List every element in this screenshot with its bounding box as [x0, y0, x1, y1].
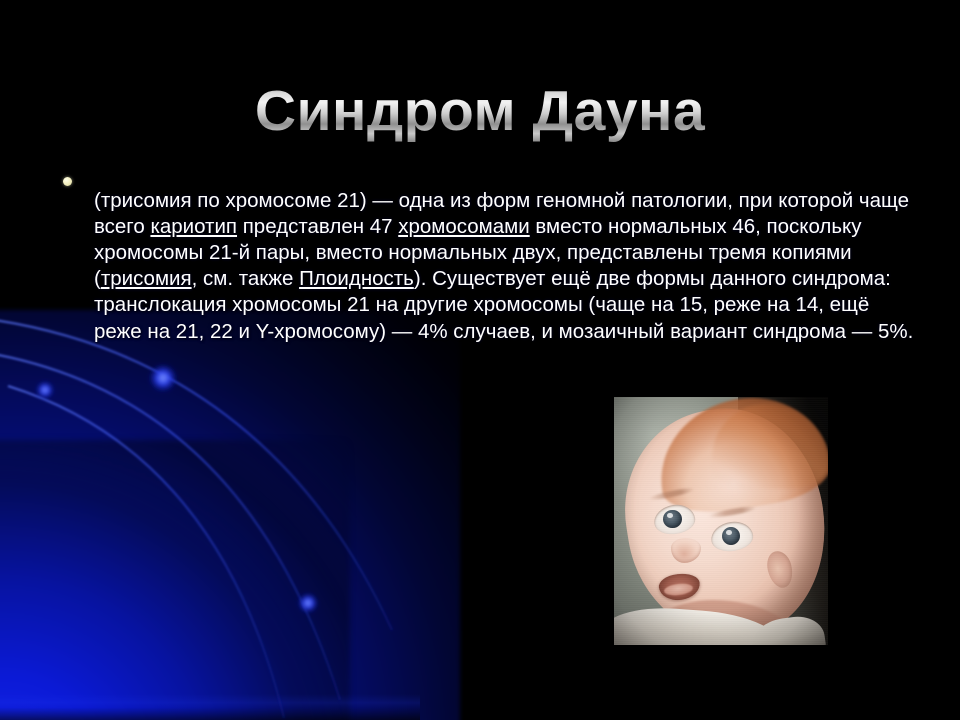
hyperlink-term[interactable]: трисомия: [101, 267, 192, 290]
paragraph-run: , см. также: [192, 267, 299, 290]
photo-grain: [614, 397, 828, 645]
arc-dot-small-lower: [298, 593, 318, 613]
presentation-slide: Синдром Дауна (трисомия по хромосоме 21)…: [0, 0, 960, 720]
hyperlink-term[interactable]: кариотип: [150, 215, 237, 238]
arc-3: [8, 386, 284, 718]
hyperlink-term[interactable]: хромосомами: [398, 215, 529, 238]
background-glow-inner: [0, 440, 350, 720]
arc-2: [0, 352, 340, 700]
arc-dot-large-mid: [149, 364, 177, 392]
photo-image: [614, 397, 828, 645]
hyperlink-term[interactable]: Плоидность: [299, 267, 414, 290]
body-paragraph: (трисомия по хромосоме 21) — одна из фор…: [94, 188, 915, 345]
bullet-point-icon: [63, 177, 72, 186]
infant-photo: [614, 397, 828, 645]
background-glow-outer: [0, 310, 460, 720]
paragraph-run: представлен 47: [237, 215, 398, 238]
bullet-list: (трисомия по хромосоме 21) — одна из фор…: [55, 167, 915, 365]
arc-dot-small-left: [36, 381, 54, 399]
slide-title: Синдром Дауна: [0, 82, 960, 142]
background-bottom-band: [0, 694, 420, 720]
